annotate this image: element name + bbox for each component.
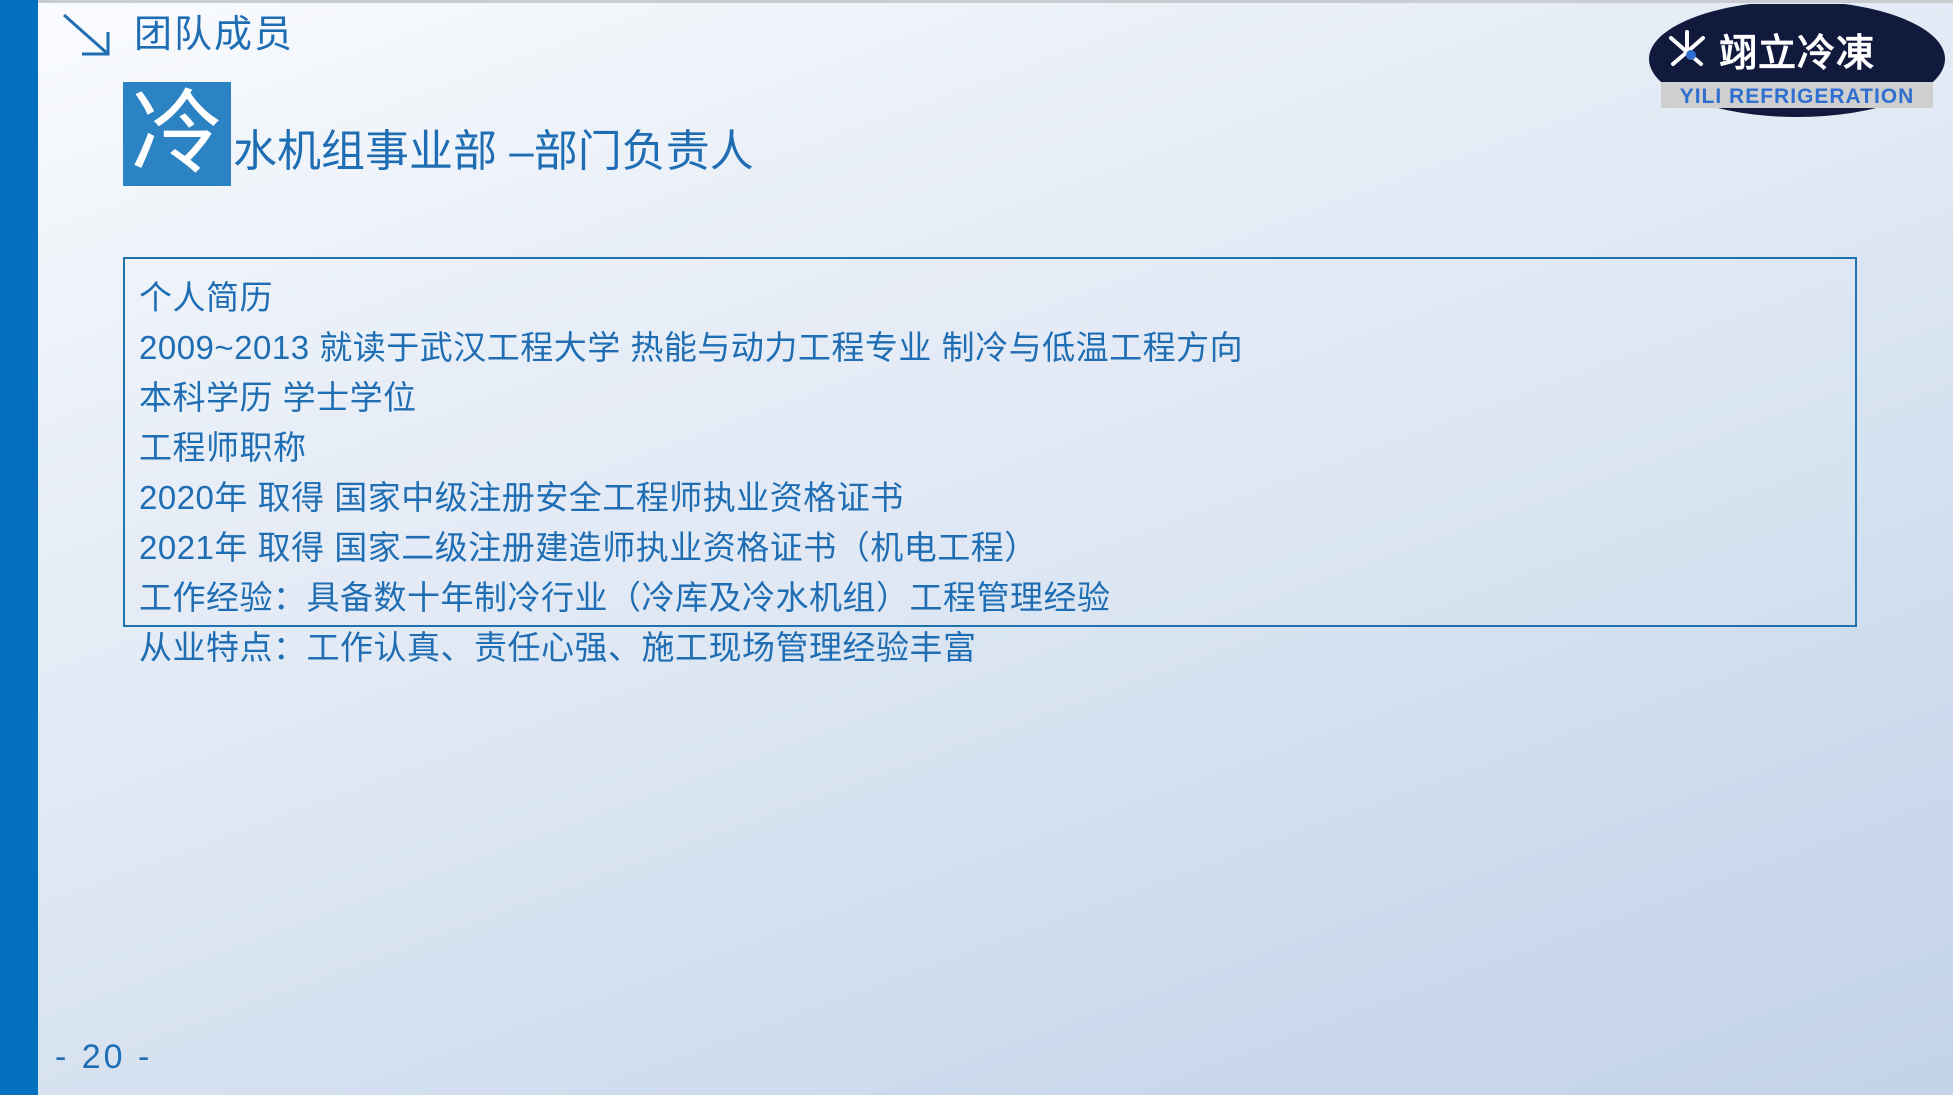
resume-line: 个人简历 [139,273,1855,323]
slide-header: 团队成员 [60,10,294,60]
resume-line: 2020年 取得 国家中级注册安全工程师执业资格证书 [139,473,1855,523]
company-logo: 翊立冷凍 YILI REFRIGERATION [1647,4,1947,122]
left-accent-bar [0,0,38,1095]
resume-line: 2021年 取得 国家二级注册建造师执业资格证书（机电工程） [139,523,1855,573]
logo-english-name: YILI REFRIGERATION [1680,85,1915,108]
slide-canvas: 团队成员 翊立冷凍 YILI REFRIGERATION 冷 水机 [0,0,1953,1095]
resume-line-list: 个人简历 2009~2013 就读于武汉工程大学 热能与动力工程专业 制冷与低温… [125,259,1855,673]
logo-chinese-name: 翊立冷凍 [1719,31,1875,75]
top-rule-divider [0,0,1953,3]
resume-line: 从业特点：工作认真、责任心强、施工现场管理经验丰富 [139,623,1855,673]
resume-box: 个人简历 2009~2013 就读于武汉工程大学 热能与动力工程专业 制冷与低温… [123,257,1857,627]
diagonal-arrow-down-right-icon [60,10,116,60]
resume-line: 工作经验：具备数十年制冷行业（冷库及冷水机组）工程管理经验 [139,573,1855,623]
section-title: 水机组事业部 –部门负责人 [233,128,754,186]
section-title-row: 冷 水机组事业部 –部门负责人 [123,82,754,186]
page-number: - 20 - [55,1038,152,1077]
resume-line: 本科学历 学士学位 [139,373,1855,423]
page-title: 团队成员 [134,16,294,54]
resume-line: 2009~2013 就读于武汉工程大学 热能与动力工程专业 制冷与低温工程方向 [139,323,1855,373]
cold-badge: 冷 [123,82,231,186]
resume-line: 工程师职称 [139,423,1855,473]
